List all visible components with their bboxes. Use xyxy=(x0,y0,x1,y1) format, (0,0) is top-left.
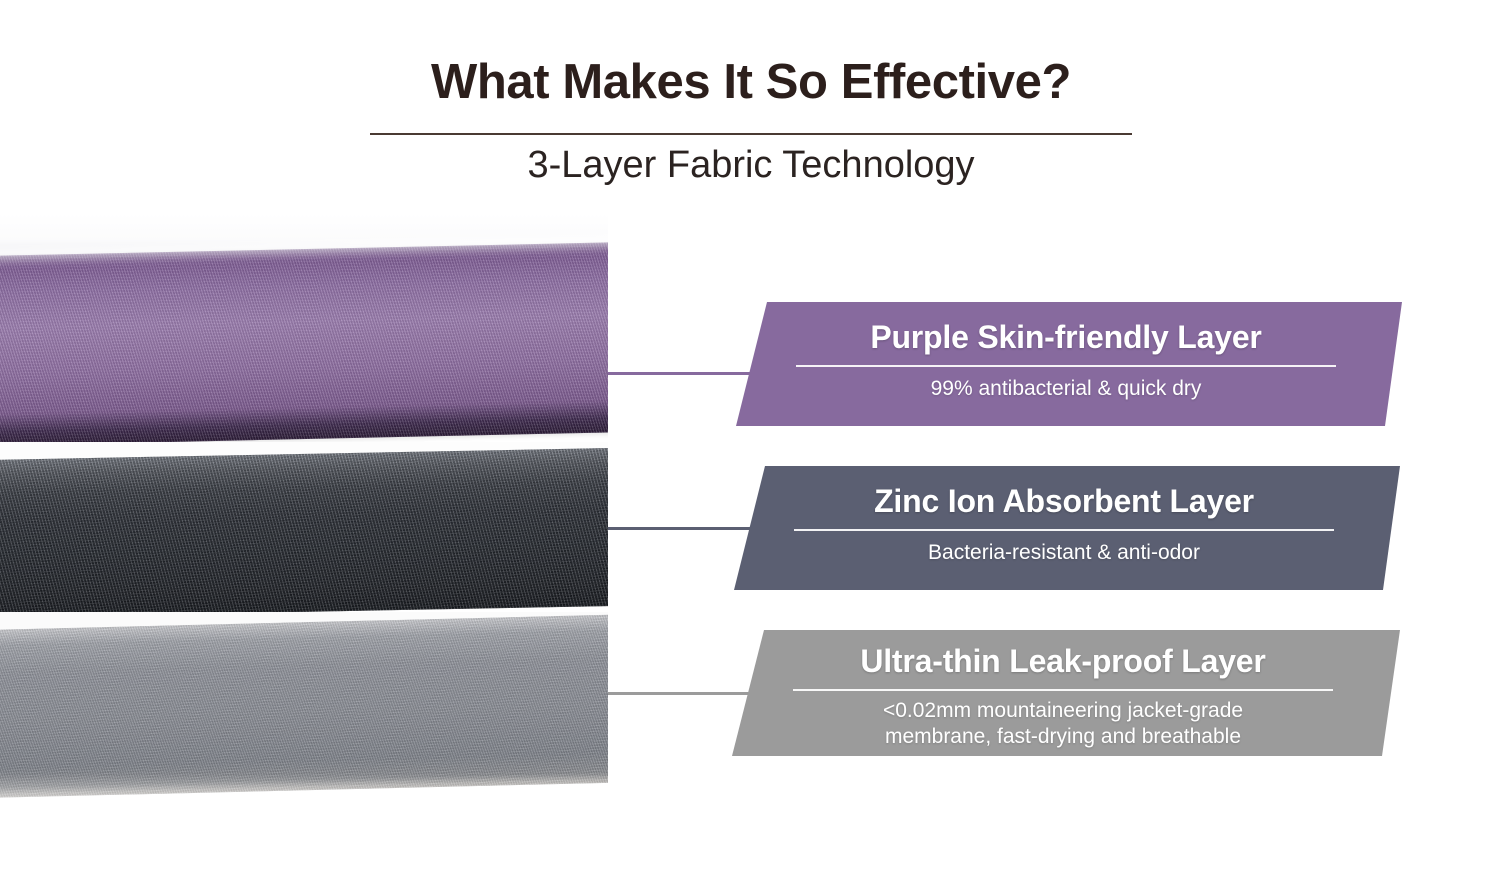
page-title: What Makes It So Effective? xyxy=(370,57,1132,109)
callout-zinc-ion-absorbent-layer[interactable]: Zinc Ion Absorbent Layer Bacteria-resist… xyxy=(728,466,1400,590)
callout-purple-skin-friendly-layer[interactable]: Purple Skin-friendly Layer 99% antibacte… xyxy=(730,302,1402,426)
banner-title-3: Ultra-thin Leak-proof Layer xyxy=(790,644,1336,680)
banner-title-2: Zinc Ion Absorbent Layer xyxy=(792,484,1336,520)
banner-subtitle-1: 99% antibacterial & quick dry xyxy=(794,367,1338,402)
banner-title-1: Purple Skin-friendly Layer xyxy=(794,320,1338,356)
title-underline-divider xyxy=(370,133,1132,135)
photo-bottom-fade xyxy=(0,774,608,870)
page-subtitle: 3-Layer Fabric Technology xyxy=(370,142,1132,188)
callout-ultra-thin-leak-proof-layer[interactable]: Ultra-thin Leak-proof Layer <0.02mm moun… xyxy=(726,630,1400,756)
zinc-ion-absorbent-strip xyxy=(0,448,608,618)
fabric-cross-section-photo xyxy=(0,214,608,870)
purple-skin-friendly-strip xyxy=(0,242,608,446)
page-header: What Makes It So Effective? 3-Layer Fabr… xyxy=(0,0,1500,205)
leak-proof-membrane-strip xyxy=(0,614,608,798)
banner-subtitle-2: Bacteria-resistant & anti-odor xyxy=(792,531,1336,566)
banner-subtitle-3-line1: <0.02mm mountaineering jacket-grade xyxy=(790,691,1336,724)
banner-subtitle-3-line2: membrane, fast-drying and breathable xyxy=(790,724,1336,750)
